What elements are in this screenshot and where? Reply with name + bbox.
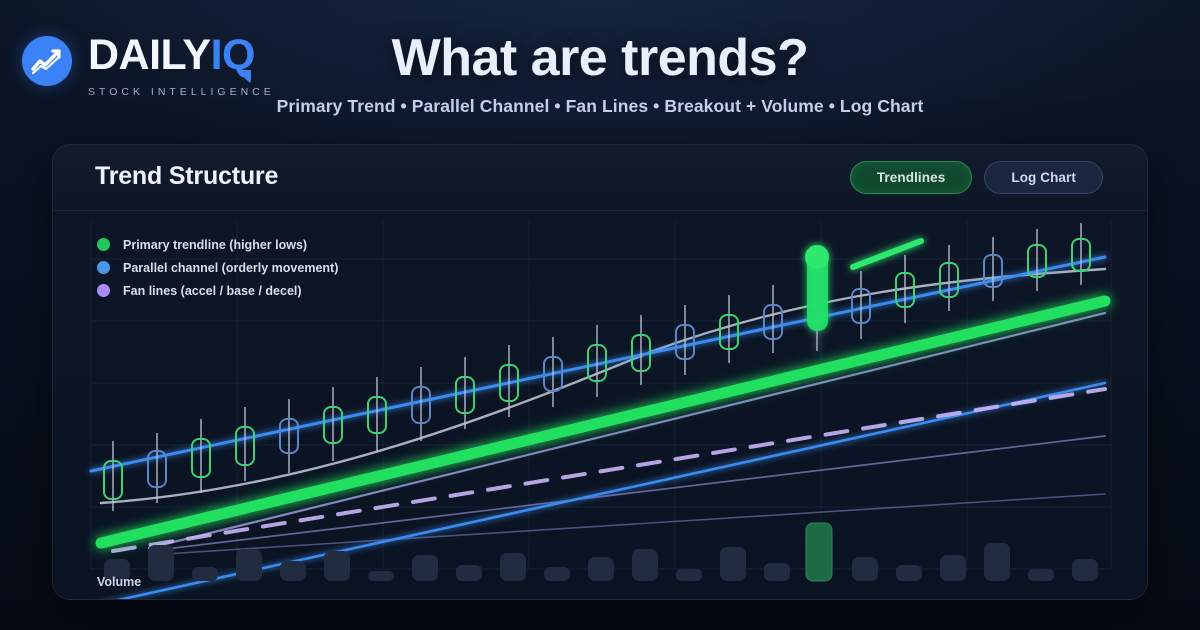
legend-dot-green-icon (97, 238, 110, 251)
chart-mode-toggle-group: Trendlines Log Chart (850, 161, 1103, 194)
legend-dot-blue-icon (97, 261, 110, 274)
moving-average-line (101, 269, 1105, 503)
card-header: Trend Structure Trendlines Log Chart (53, 145, 1147, 211)
toggle-log-chart[interactable]: Log Chart (984, 161, 1103, 194)
breakout-candle (805, 245, 829, 351)
legend-label: Fan lines (accel / base / decel) (123, 284, 302, 298)
legend-item-fan-lines: Fan lines (accel / base / decel) (97, 279, 338, 302)
volume-axis-label: Volume (97, 575, 141, 589)
infographic-page: DAILYIQ STOCK INTELLIGENCE What are tren… (0, 0, 1200, 630)
legend-item-parallel-channel: Parallel channel (orderly movement) (97, 256, 338, 279)
page-title: What are trends? (0, 28, 1200, 88)
volume-bar-breakout (806, 523, 832, 581)
page-header: DAILYIQ STOCK INTELLIGENCE What are tren… (0, 0, 1200, 140)
breakout-arrow (853, 241, 921, 267)
legend-label: Primary trendline (higher lows) (123, 238, 307, 252)
fan-lines (149, 313, 1105, 555)
support-dashed-line (113, 389, 1105, 551)
trend-structure-card: Trend Structure Trendlines Log Chart (52, 144, 1148, 600)
card-title: Trend Structure (95, 162, 278, 191)
legend-label: Parallel channel (orderly movement) (123, 261, 338, 275)
chart-plot-area[interactable]: Primary trendline (higher lows) Parallel… (53, 211, 1148, 600)
legend-item-primary-trendline: Primary trendline (higher lows) (97, 233, 338, 256)
volume-bars (104, 523, 1098, 581)
toggle-trendlines[interactable]: Trendlines (850, 161, 973, 194)
chart-legend: Primary trendline (higher lows) Parallel… (97, 233, 338, 302)
legend-dot-purple-icon (97, 284, 110, 297)
page-subtitle: Primary Trend • Parallel Channel • Fan L… (0, 96, 1200, 117)
